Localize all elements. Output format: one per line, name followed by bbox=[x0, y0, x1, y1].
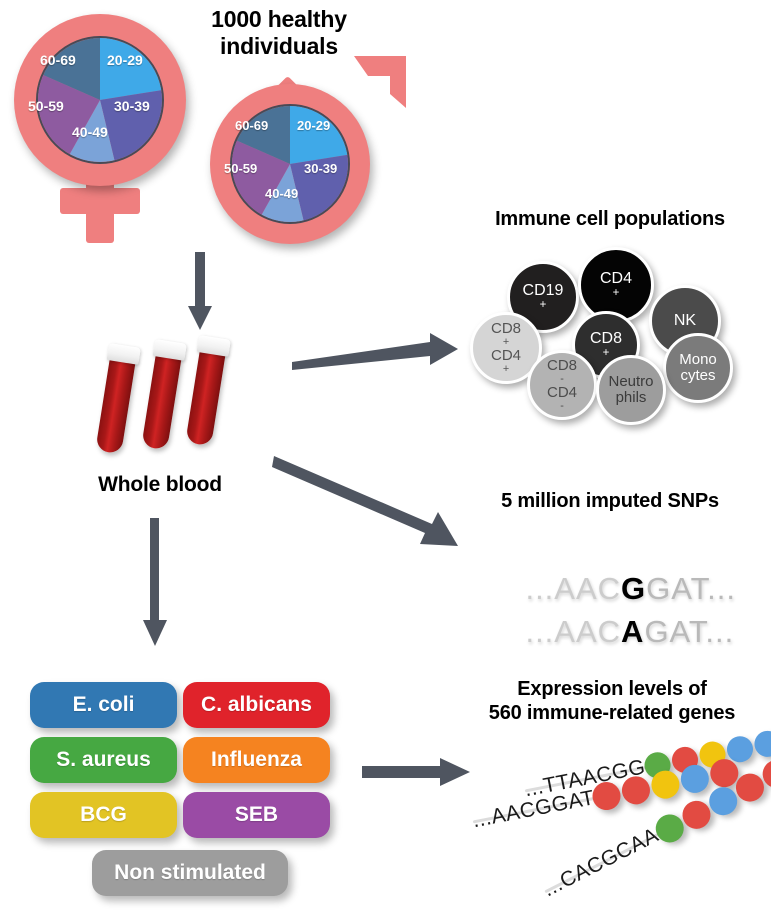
arrow-blood-to-stimuli bbox=[140, 518, 170, 648]
arrow-stimuli-to-expression bbox=[362, 758, 472, 788]
stimulus-pill-non-stimulated[interactable]: Non stimulated bbox=[92, 850, 288, 896]
whole-blood-label: Whole blood bbox=[70, 473, 250, 498]
strand-1: ...TTAACGG bbox=[522, 726, 771, 807]
stimulus-label: E. coli bbox=[73, 693, 135, 717]
nucleotide-bead bbox=[670, 745, 700, 775]
nucleotide-bead bbox=[678, 762, 711, 795]
arrow-blood-to-snps bbox=[272, 450, 462, 555]
pie-label-30-39: 30-39 bbox=[304, 161, 337, 176]
male-gender-symbol: 20-29 30-39 40-49 50-59 60-69 bbox=[208, 50, 408, 250]
strand-sequence: ...CACGCAA bbox=[539, 824, 662, 903]
stimulus-label: Influenza bbox=[211, 748, 302, 772]
cell-label: Monocytes bbox=[679, 352, 717, 384]
pie-label-30-39: 30-39 bbox=[114, 98, 150, 114]
stimulus-pill-e-coli[interactable]: E. coli bbox=[30, 682, 177, 728]
nucleotide-bead bbox=[708, 757, 741, 790]
strand-sequence: ...TTAACGG bbox=[523, 755, 648, 802]
monocytes-cell[interactable]: Monocytes bbox=[663, 333, 733, 403]
blood-tube-body bbox=[141, 349, 182, 450]
strand-backbone bbox=[473, 797, 595, 824]
nucleotide-bead bbox=[731, 769, 769, 807]
strand-backbone bbox=[544, 833, 659, 894]
stimulus-pill-s-aureus[interactable]: S. aureus bbox=[30, 737, 177, 783]
nucleotide-bead bbox=[758, 755, 771, 793]
nucleotide-bead bbox=[620, 774, 653, 807]
blood-tube bbox=[140, 339, 190, 458]
snp-sequence-row: ...AACAGAT... bbox=[487, 578, 734, 686]
cell-label: Neutrophils bbox=[608, 374, 653, 406]
pie-label-20-29: 20-29 bbox=[297, 118, 330, 133]
cell-label: CD19+ bbox=[523, 283, 564, 312]
neutrophils-cell[interactable]: Neutrophils bbox=[596, 355, 666, 425]
stimulus-pill-seb[interactable]: SEB bbox=[183, 792, 330, 838]
arrow-blood-to-immune bbox=[290, 330, 460, 375]
stimulus-pill-influenza[interactable]: Influenza bbox=[183, 737, 330, 783]
strand-2: ...AACGGAT bbox=[470, 754, 742, 839]
expression-heading-line2: 560 immune-related genes bbox=[456, 702, 768, 726]
female-stem-crossbar bbox=[60, 188, 140, 214]
stimulus-label: S. aureus bbox=[56, 748, 151, 772]
blood-tube-body bbox=[95, 353, 136, 454]
nucleotide-bead bbox=[642, 750, 672, 780]
cd8-cd4-double-negative-cell[interactable]: CD8-CD4- bbox=[527, 350, 597, 420]
expression-heading: Expression levels of 560 immune-related … bbox=[456, 678, 768, 725]
stimulus-pill-c-albicans[interactable]: C. albicans bbox=[183, 682, 330, 728]
snps-heading: 5 million imputed SNPs bbox=[460, 490, 760, 514]
nucleotide-bead bbox=[697, 739, 727, 769]
strand-backbone bbox=[525, 766, 647, 793]
stimulus-label: SEB bbox=[235, 803, 278, 827]
pie-label-40-49: 40-49 bbox=[265, 186, 298, 201]
pie-label-60-69: 60-69 bbox=[235, 118, 268, 133]
cell-label: CD8+CD4+ bbox=[491, 321, 521, 375]
stimulus-label: C. albicans bbox=[201, 693, 312, 717]
nucleotide-bead bbox=[704, 782, 742, 820]
cell-label: CD8+ bbox=[590, 331, 622, 360]
snp-prefix: ...AAC bbox=[525, 614, 621, 649]
pie-label-20-29: 20-29 bbox=[107, 52, 143, 68]
nucleotide-bead bbox=[590, 780, 623, 813]
whole-blood-tubes bbox=[108, 340, 268, 465]
female-gender-symbol: 20-29 30-39 40-49 50-59 60-69 bbox=[8, 12, 198, 242]
expression-heading-line1: Expression levels of bbox=[456, 678, 768, 702]
blood-tube bbox=[184, 335, 234, 454]
pie-label-60-69: 60-69 bbox=[40, 52, 76, 68]
blood-tube bbox=[94, 343, 144, 462]
nucleotide-bead bbox=[725, 734, 755, 764]
pie-label-40-49: 40-49 bbox=[72, 124, 108, 140]
nucleotide-bead bbox=[651, 810, 689, 848]
nucleotide-bead bbox=[649, 768, 682, 801]
cohort-heading-line1: 1000 healthy bbox=[176, 6, 382, 33]
cell-label: CD4+ bbox=[600, 271, 632, 300]
pie-label-50-59: 50-59 bbox=[224, 161, 257, 176]
stimulus-pill-bcg[interactable]: BCG bbox=[30, 792, 177, 838]
strand-sequence: ...AACGGAT bbox=[471, 786, 597, 833]
stimulus-label: BCG bbox=[80, 803, 127, 827]
cell-label: NK bbox=[674, 313, 696, 330]
snp-variant-allele: A bbox=[621, 614, 644, 649]
arrow-cohort-to-blood bbox=[185, 252, 215, 332]
immune-heading: Immune cell populations bbox=[455, 208, 765, 232]
figure-canvas: 1000 healthy individuals 20-29 30-39 40-… bbox=[0, 0, 771, 922]
male-arrow-head bbox=[340, 54, 408, 120]
nucleotide-bead bbox=[752, 729, 771, 759]
strand-3: ...CACGCAA bbox=[537, 752, 771, 907]
snp-suffix: GAT... bbox=[644, 614, 734, 649]
stimulus-label: Non stimulated bbox=[114, 861, 266, 885]
nucleotide-bead bbox=[678, 796, 716, 834]
cell-label: CD8-CD4- bbox=[547, 358, 577, 412]
blood-tube-body bbox=[185, 345, 226, 446]
pie-label-50-59: 50-59 bbox=[28, 98, 64, 114]
